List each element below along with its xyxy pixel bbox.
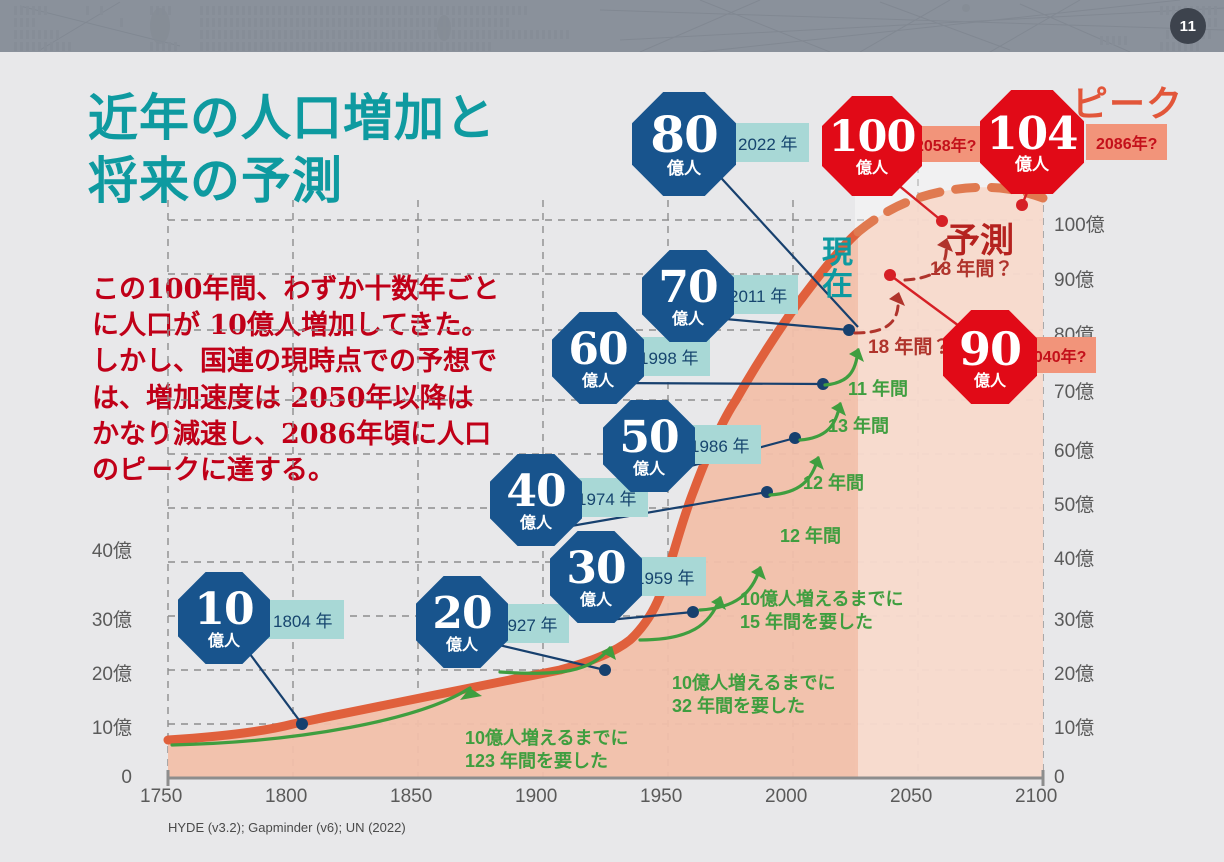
forecast-label: 予測 — [946, 220, 1014, 263]
year-chip-2086: 2086年? — [1086, 124, 1167, 160]
x-tick-2050: 2050 — [890, 786, 932, 808]
y-right-tick-70: 70億 — [1054, 377, 1094, 404]
population-chart: 0 10億 20億 30億 40億 0 10億 20億 30億 40億 50億 … — [0, 0, 1224, 862]
x-tick-2000: 2000 — [765, 786, 807, 808]
y-right-tick-60: 60億 — [1054, 436, 1094, 463]
y-right-tick-10: 10億 — [1054, 713, 1094, 740]
milestone-unit-104: 億人 — [1015, 157, 1049, 174]
y-right-tick-100: 100億 — [1054, 210, 1105, 237]
interval-label-12years-b: 12 年間 — [803, 472, 864, 495]
year-chip-1804: 1804 年 — [262, 600, 344, 639]
y-left-tick-40: 40億 — [68, 536, 132, 563]
milestone-value-40: 40 — [506, 470, 565, 514]
year-chip-2022: 2022 年 — [727, 123, 809, 162]
milestone-value-30: 30 — [566, 547, 625, 591]
y-right-tick-50: 50億 — [1054, 490, 1094, 517]
x-tick-1750: 1750 — [140, 786, 182, 808]
milestone-unit-10: 億人 — [208, 633, 240, 649]
milestone-unit-80: 億人 — [667, 161, 701, 178]
interval-label-11years: 11 年間 — [848, 378, 908, 401]
milestone-unit-30: 億人 — [580, 592, 612, 608]
y-left-tick-30: 30億 — [68, 605, 132, 632]
milestone-badge-100: 100 億人 — [822, 96, 922, 196]
milestone-unit-50: 億人 — [633, 461, 665, 477]
milestone-value-10: 10 — [194, 588, 253, 632]
milestone-unit-20: 億人 — [446, 637, 478, 653]
milestone-value-70: 70 — [658, 266, 717, 310]
milestone-value-104: 104 — [987, 111, 1078, 156]
milestone-unit-90: 億人 — [974, 373, 1006, 389]
x-tick-1950: 1950 — [640, 786, 682, 808]
interval-label-18years-a: 18 年間？ — [868, 336, 951, 360]
milestone-value-80: 80 — [650, 110, 718, 160]
milestone-unit-70: 億人 — [672, 311, 704, 327]
interval-label-13years: 13 年間 — [828, 415, 889, 438]
milestone-value-60: 60 — [568, 328, 627, 372]
now-label: 現在 — [822, 238, 856, 302]
peak-label: ピーク — [1072, 82, 1183, 127]
x-tick-1850: 1850 — [390, 786, 432, 808]
milestone-value-90: 90 — [959, 326, 1021, 372]
y-right-tick-20: 20億 — [1054, 659, 1094, 686]
interval-label-123years: 10億人増えるまでに 123 年間を要した — [465, 727, 628, 772]
x-tick-1900: 1900 — [515, 786, 557, 808]
interval-label-12years-a: 12 年間 — [780, 525, 841, 548]
y-right-tick-30: 30億 — [1054, 605, 1094, 632]
interval-label-15years: 10億人増えるまでに 15 年間を要した — [740, 588, 903, 633]
y-right-tick-90: 90億 — [1054, 265, 1094, 292]
interval-label-32years: 10億人増えるまでに 32 年間を要した — [672, 672, 835, 717]
x-tick-1800: 1800 — [265, 786, 307, 808]
y-right-tick-40: 40億 — [1054, 544, 1094, 571]
milestone-unit-60: 億人 — [582, 373, 614, 389]
milestone-unit-40: 億人 — [520, 515, 552, 531]
y-left-tick-0: 0 — [88, 767, 132, 789]
y-left-tick-20: 20億 — [68, 659, 132, 686]
x-tick-2100: 2100 — [1015, 786, 1057, 808]
source-caption: HYDE (v3.2); Gapminder (v6); UN (2022) — [168, 820, 406, 835]
milestone-value-50: 50 — [619, 416, 678, 460]
milestone-value-20: 20 — [432, 592, 491, 636]
milestone-unit-100: 億人 — [856, 160, 888, 176]
milestone-value-100: 100 — [829, 116, 916, 159]
y-left-tick-10: 10億 — [68, 713, 132, 740]
